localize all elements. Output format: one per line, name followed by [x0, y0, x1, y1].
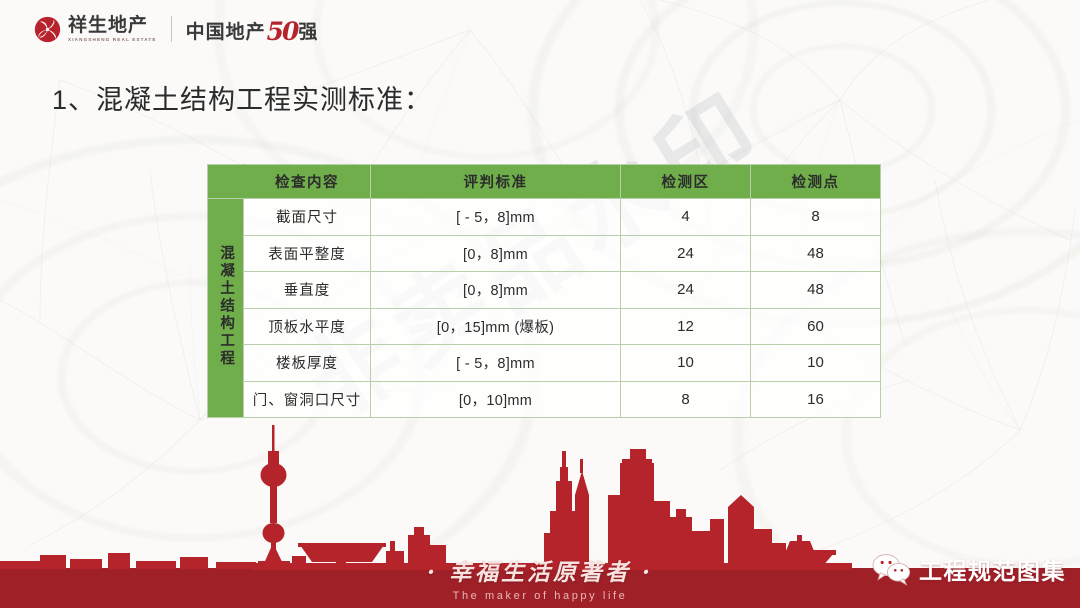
- column-header-criteria: 评判标准: [371, 165, 621, 199]
- award-number: 50: [267, 17, 298, 46]
- cell-zone: 10: [621, 345, 751, 382]
- spiral-swirl-logo-icon: [34, 16, 61, 43]
- vertical-divider-icon: [171, 16, 172, 42]
- cell-item: 门、窗洞口尺寸: [244, 381, 371, 418]
- table-row: 顶板水平度 [0，15]mm (爆板) 12 60: [208, 308, 881, 345]
- table-row: 混凝土结构工程 截面尺寸 [ - 5，8]mm 4 8: [208, 199, 881, 236]
- cell-criteria: [ - 5，8]mm: [371, 345, 621, 382]
- cell-criteria: [0，10]mm: [371, 381, 621, 418]
- award-suffix: 强: [298, 17, 318, 44]
- row-group-label: 混凝土结构工程: [218, 245, 233, 368]
- cell-point: 60: [751, 308, 881, 345]
- cell-point: 16: [751, 381, 881, 418]
- cell-point: 10: [751, 345, 881, 382]
- table-header-row: 检查内容 评判标准 检测区 检测点: [208, 165, 881, 199]
- header-logo-bar: 祥生地产 XIANGSHENG REAL ESTATE 中国地产50强: [0, 0, 1080, 58]
- cell-point: 48: [751, 235, 881, 272]
- award-badge: 中国地产50强: [186, 15, 319, 44]
- cell-criteria: [0，15]mm (爆板): [371, 308, 621, 345]
- table-row: 表面平整度 [0，8]mm 24 48: [208, 235, 881, 272]
- table-row: 门、窗洞口尺寸 [0，10]mm 8 16: [208, 381, 881, 418]
- cell-zone: 4: [621, 199, 751, 236]
- brand-logo: 祥生地产 XIANGSHENG REAL ESTATE: [34, 16, 157, 43]
- spec-table: 检查内容 评判标准 检测区 检测点 混凝土结构工程 截面尺寸 [ - 5，8]m…: [207, 164, 881, 418]
- wechat-badge[interactable]: 工程规范图集: [871, 552, 1066, 586]
- spec-table-body: 混凝土结构工程 截面尺寸 [ - 5，8]mm 4 8 表面平整度 [0，8]m…: [208, 199, 881, 418]
- table-row: 垂直度 [0，8]mm 24 48: [208, 272, 881, 309]
- cell-item: 垂直度: [244, 272, 371, 309]
- slide-canvas: 祥生地产 XIANGSHENG REAL ESTATE 中国地产50强 1、混凝…: [0, 0, 1080, 608]
- brand-name-cn: 祥生地产: [68, 16, 157, 36]
- page-title: 1、混凝土结构工程实测标准：: [52, 78, 432, 117]
- column-header-zone: 检测区: [621, 165, 751, 199]
- cell-point: 8: [751, 199, 881, 236]
- cell-item: 表面平整度: [244, 235, 371, 272]
- cell-criteria: [ - 5，8]mm: [371, 199, 621, 236]
- column-header-point: 检测点: [751, 165, 881, 199]
- cell-zone: 24: [621, 235, 751, 272]
- award-prefix: 中国地产: [186, 17, 266, 44]
- row-group-label-cell: 混凝土结构工程: [208, 199, 244, 418]
- brand-name-en: XIANGSHENG REAL ESTATE: [68, 37, 157, 42]
- cell-criteria: [0，8]mm: [371, 235, 621, 272]
- cell-zone: 12: [621, 308, 751, 345]
- cell-zone: 8: [621, 381, 751, 418]
- cell-zone: 24: [621, 272, 751, 309]
- cell-point: 48: [751, 272, 881, 309]
- cell-item: 楼板厚度: [244, 345, 371, 382]
- wechat-account-name: 工程规范图集: [919, 552, 1066, 586]
- wechat-icon: [871, 552, 913, 586]
- cell-item: 顶板水平度: [244, 308, 371, 345]
- column-header-item: 检查内容: [244, 165, 371, 199]
- cell-item: 截面尺寸: [244, 199, 371, 236]
- cell-criteria: [0，8]mm: [371, 272, 621, 309]
- spec-table-container: 检查内容 评判标准 检测区 检测点 混凝土结构工程 截面尺寸 [ - 5，8]m…: [207, 164, 880, 418]
- table-corner-cell: [208, 165, 244, 199]
- table-row: 楼板厚度 [ - 5，8]mm 10 10: [208, 345, 881, 382]
